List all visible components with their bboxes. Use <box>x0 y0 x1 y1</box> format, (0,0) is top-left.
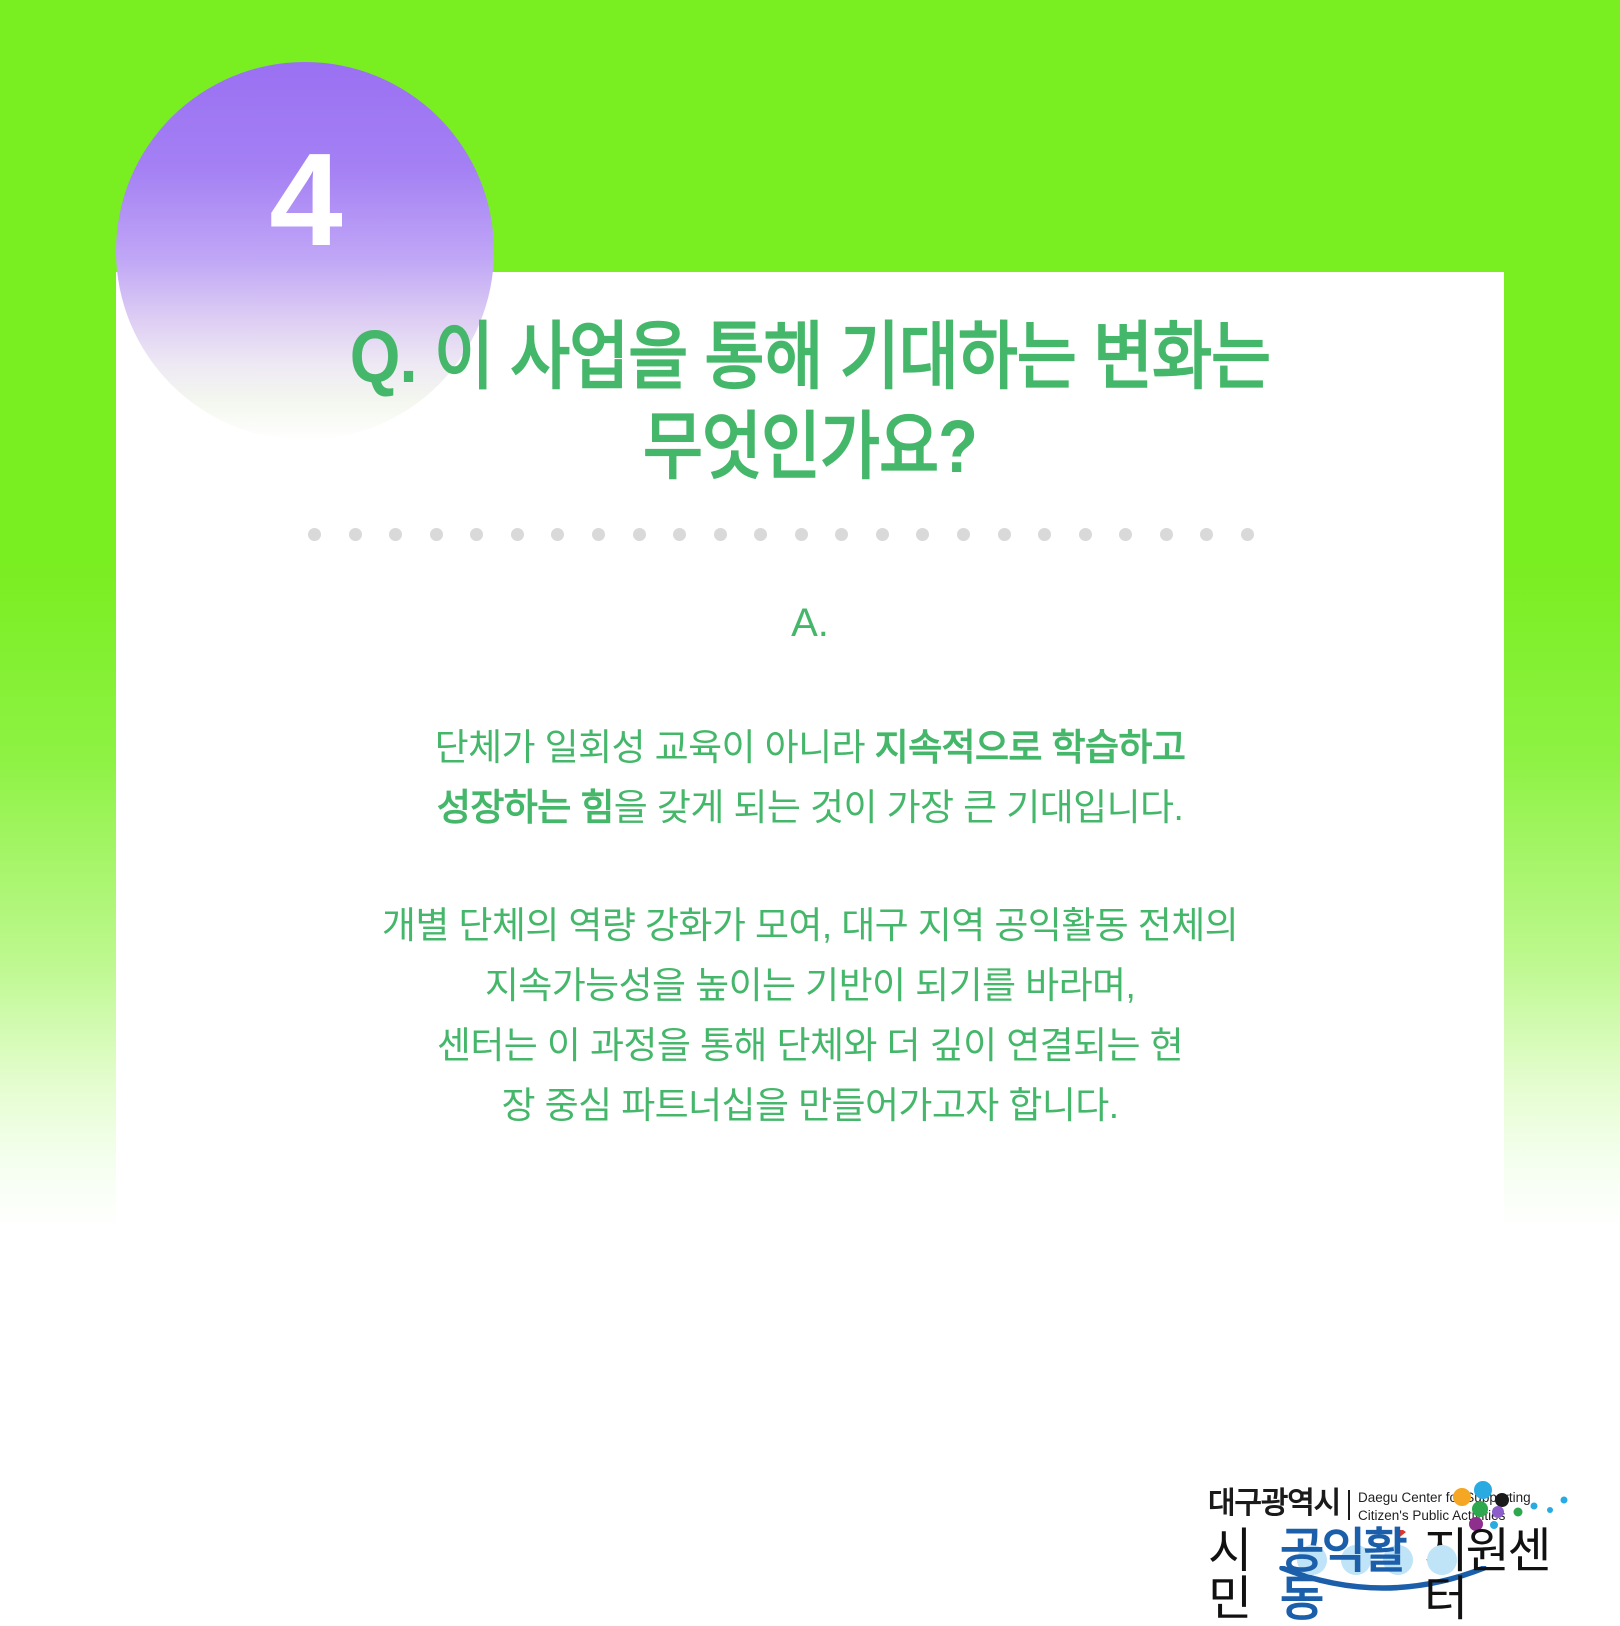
divider-dot <box>308 528 321 541</box>
divider-dot <box>430 528 443 541</box>
answer-block: A. 단체가 일회성 교육이 아니라 지속적으로 학습하고 성장하는 힘을 갖게… <box>116 600 1504 1136</box>
divider-dot <box>349 528 362 541</box>
divider-dot <box>998 528 1011 541</box>
organization-logo: 대구광역시 Daegu Center for Supporting Citize… <box>1208 1480 1568 1588</box>
logo-korean-city: 대구광역시 <box>1208 1488 1340 1520</box>
divider-dot <box>633 528 646 541</box>
divider-dot <box>1241 528 1254 541</box>
divider-dot <box>1160 528 1173 541</box>
divider-dot <box>1200 528 1213 541</box>
divider-dot <box>551 528 564 541</box>
divider-dot <box>876 528 889 541</box>
divider-dot <box>389 528 402 541</box>
divider-dot <box>470 528 483 541</box>
divider-dot <box>1119 528 1132 541</box>
divider-dot <box>673 528 686 541</box>
divider-dot <box>1079 528 1092 541</box>
logo-korean-part1: 시민 <box>1208 1528 1280 1624</box>
answer-p1-suffix: 을 갖게 되는 것이 가장 큰 기대입니다. <box>614 787 1183 828</box>
divider-dot <box>1038 528 1051 541</box>
answer-paragraph-primary: 단체가 일회성 교육이 아니라 지속적으로 학습하고 성장하는 힘을 갖게 되는… <box>116 658 1504 838</box>
divider-dot <box>795 528 808 541</box>
divider-dot <box>511 528 524 541</box>
step-number-label: 4 <box>116 134 494 266</box>
logo-bottom-row: 시민공익활동지원센터 <box>1208 1528 1568 1624</box>
dotted-divider <box>308 527 1254 541</box>
divider-dot <box>916 528 929 541</box>
answer-paragraph-secondary: 개별 단체의 역량 강화가 모여, 대구 지역 공익활동 전체의 지속가능성을 … <box>116 896 1504 1136</box>
answer-p1-prefix: 단체가 일회성 교육이 아니라 <box>435 727 875 768</box>
logo-korean-part2: 공익활동 <box>1280 1528 1424 1624</box>
divider-dot <box>714 528 727 541</box>
divider-dot <box>835 528 848 541</box>
divider-dot <box>592 528 605 541</box>
content-card-fade <box>116 1160 1504 1280</box>
logo-divider-bar <box>1348 1490 1350 1520</box>
divider-dot <box>754 528 767 541</box>
question-title: Q. 이 사업을 통해 기대하는 변화는 무엇인가요? <box>199 312 1420 493</box>
divider-dot <box>957 528 970 541</box>
answer-label: A. <box>116 600 1504 646</box>
